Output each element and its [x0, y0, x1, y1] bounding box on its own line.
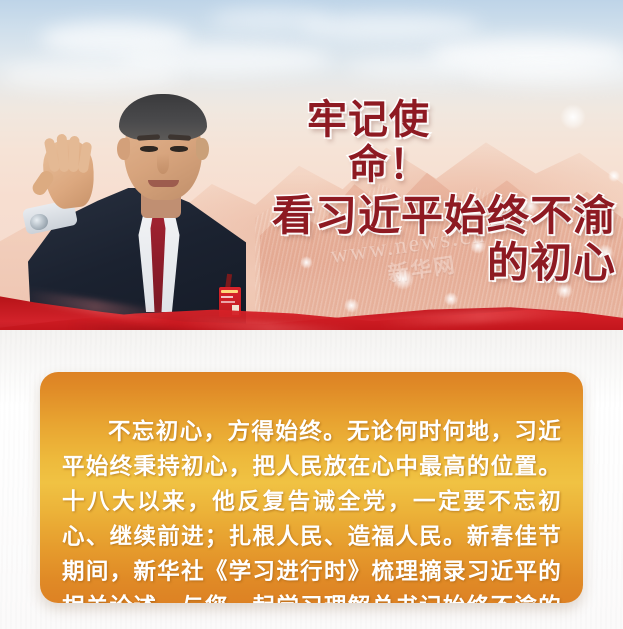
poster-canvas: 牢记使命！ 看习近平始终不渝的初心 www.news.cn 新华网 不忘初心，方…: [0, 0, 623, 629]
cloud-shape: [210, 8, 330, 30]
summary-body-text: 不忘初心，方得始终。无论何时何地，习近平始终秉持初心，把人民放在心中最高的位置。…: [62, 415, 561, 604]
headline-line-1: 牢记使命！: [236, 98, 616, 188]
cloud-shape: [350, 56, 490, 80]
ear-right-shape: [196, 138, 209, 160]
hair-shape: [119, 94, 207, 140]
cloud-shape: [0, 60, 180, 90]
nose-shape: [157, 154, 169, 174]
headline-line-2: 看习近平始终不渝的初心: [236, 192, 616, 286]
cloud-shape: [470, 60, 623, 86]
eye-left-shape: [140, 146, 158, 152]
summary-card: 不忘初心，方得始终。无论何时何地，习近平始终秉持初心，把人民放在心中最高的位置。…: [40, 372, 583, 603]
headline-block: 牢记使命！ 看习近平始终不渝的初心: [236, 98, 616, 286]
eye-right-shape: [170, 146, 188, 152]
mouth-shape: [148, 180, 179, 187]
summary-card-inner: 不忘初心，方得始终。无论何时何地，习近平始终秉持初心，把人民放在心中最高的位置。…: [40, 372, 583, 603]
ear-left-shape: [117, 138, 130, 160]
